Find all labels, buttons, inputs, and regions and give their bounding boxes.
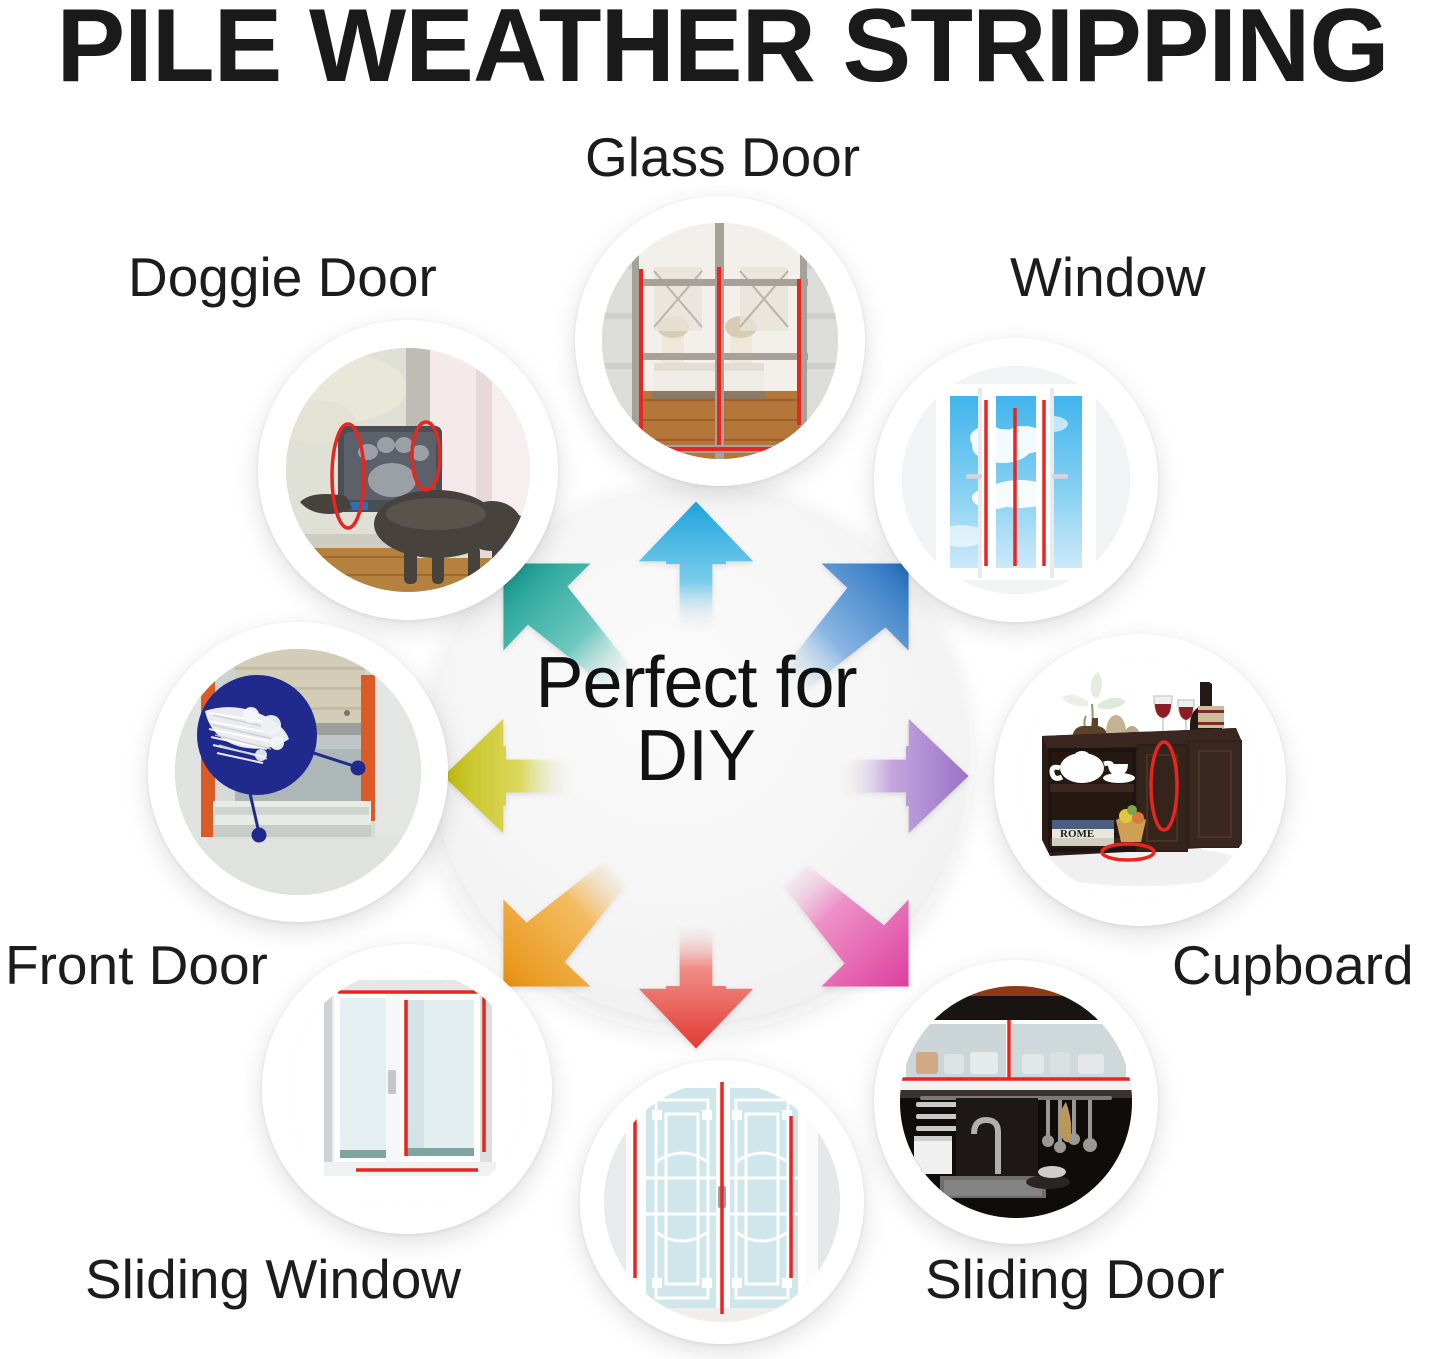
doggie-door-photo [286,348,530,592]
application-circle-front-door[interactable] [148,622,448,922]
front-door-photo [175,649,421,895]
label-cupboard: Cupboard [1172,938,1414,993]
application-circle-glass-door[interactable] [575,196,865,486]
application-circle-sliding-window[interactable] [262,944,552,1234]
cupboard-photo: ROME [1020,660,1260,900]
center-slogan: Perfect for DIY [508,648,884,793]
svg-text:ROME: ROME [1060,828,1094,840]
application-circle-frosted-door[interactable] [580,1060,864,1344]
arrow-down-icon [628,918,764,1054]
arrow-down-right-icon [778,856,914,992]
frosted-door-photo [604,1082,840,1322]
infographic-canvas: PILE WEATHER STRIPPING [0,0,1445,1359]
label-glass-door: Glass Door [585,130,860,185]
glass-door-photo [602,223,838,459]
label-front-door: Front Door [5,938,268,993]
label-window: Window [1010,250,1206,305]
sliding-window-photo [288,970,526,1208]
sliding-door-photo [900,986,1132,1218]
window-photo [902,366,1130,594]
label-sliding-window: Sliding Window [85,1252,461,1307]
label-doggie-door: Doggie Door [128,250,437,305]
application-circle-window[interactable] [874,338,1158,622]
label-sliding-door: Sliding Door [925,1252,1225,1307]
application-circle-cupboard[interactable]: ROME [994,634,1286,926]
arrow-down-left-icon [498,856,634,992]
slogan-line-1: Perfect for [508,648,884,719]
application-circle-sliding-door[interactable] [874,960,1158,1244]
application-circle-doggie-door[interactable] [258,320,558,620]
slogan-line-2: DIY [508,719,884,794]
page-title: PILE WEATHER STRIPPING [7,0,1438,98]
arrow-up-icon [628,496,764,632]
